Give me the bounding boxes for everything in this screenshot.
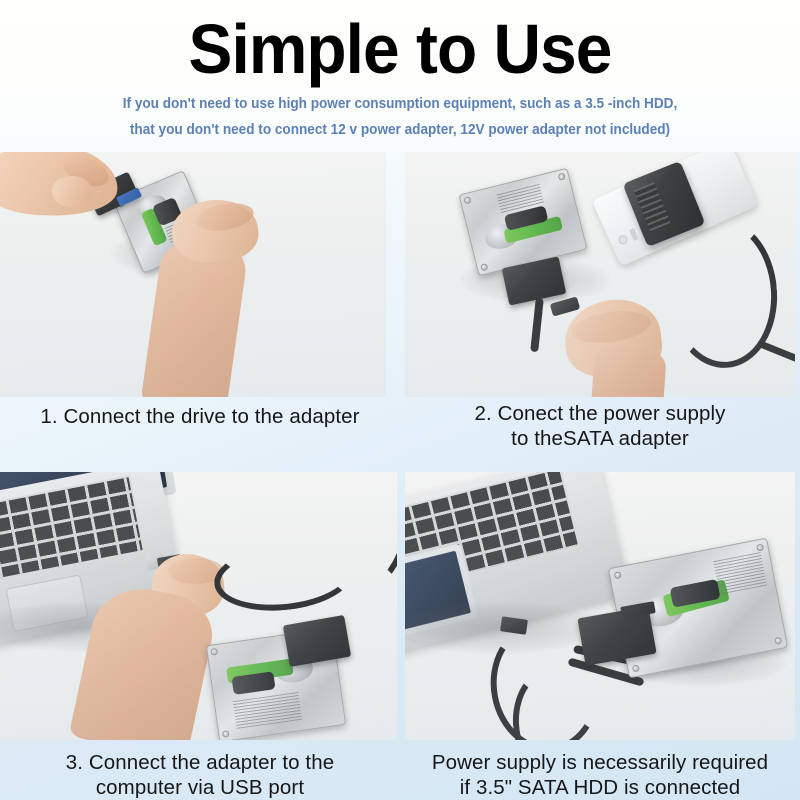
step-3-caption: 3. Connect the adapter to the computer v… (0, 750, 400, 800)
drive-screw (557, 173, 565, 181)
step-1-caption: 1. Connect the drive to the adapter (0, 404, 400, 429)
drive-screw (774, 637, 782, 645)
step-panel-2: 2. Conect the power supply to theSATA ad… (400, 152, 800, 462)
brick-vents (634, 182, 671, 231)
drive-screw (480, 263, 488, 271)
step-3-photo (0, 472, 397, 740)
drive-screw (210, 648, 218, 656)
header: Simple to Use If you don't need to use h… (0, 0, 800, 152)
step-4-caption: Power supply is necessarily required if … (400, 750, 800, 800)
step-2-photo (405, 152, 795, 397)
step-4-caption-line-1: Power supply is necessarily required (400, 750, 800, 775)
drive-screw (756, 543, 764, 551)
subtitle-line-1: If you don't need to use high power cons… (28, 93, 772, 116)
drive-screw (222, 730, 230, 738)
step-3-caption-line-2: computer via USB port (0, 775, 400, 800)
step-panel-4: Power supply is necessarily required if … (400, 462, 800, 800)
step-panel-1: 1. Connect the drive to the adapter (0, 152, 400, 462)
step-1-photo (0, 152, 386, 397)
steps-grid: 1. Connect the drive to the adapter (0, 152, 800, 800)
drive-label-text (233, 692, 302, 729)
keyboard-keys (0, 477, 143, 584)
forearm (591, 346, 667, 397)
drive-screw (463, 196, 471, 204)
step-2-caption-line-1: 2. Conect the power supply (400, 401, 800, 426)
step-2-caption-line-2: to theSATA adapter (400, 426, 800, 451)
socket-hole (629, 228, 638, 241)
drive-label-text (713, 552, 767, 595)
step-1-caption-line-1: 1. Connect the drive to the adapter (0, 404, 400, 429)
page-title: Simple to Use (24, 8, 776, 90)
step-2-caption: 2. Conect the power supply to theSATA ad… (400, 401, 800, 451)
step-4-caption-line-2: if 3.5" SATA HDD is connected (400, 775, 800, 800)
step-3-caption-line-1: 3. Connect the adapter to the (0, 750, 400, 775)
drive-screw (632, 664, 640, 672)
power-switch (617, 234, 629, 246)
subtitle-line-2: that you don't need to connect 12 v powe… (28, 119, 772, 142)
step-4-photo (405, 472, 795, 740)
drive-screw (614, 571, 622, 579)
laptop-keyboard (0, 475, 145, 587)
step-panel-3: 3. Connect the adapter to the computer v… (0, 462, 400, 800)
